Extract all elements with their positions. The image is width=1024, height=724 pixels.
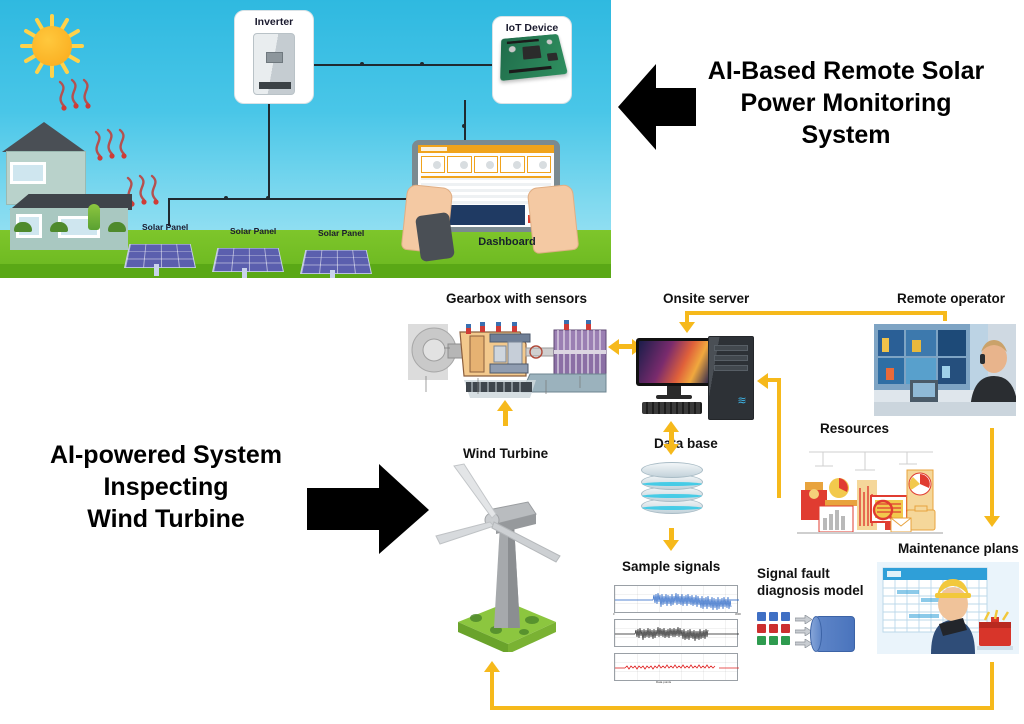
feedback-loop-bottom	[490, 706, 994, 710]
wire	[300, 64, 500, 66]
fault-model-label-line-2: diagnosis model	[757, 583, 867, 600]
connector-turbine-gearbox	[503, 410, 508, 426]
arrowhead-up-icon	[663, 421, 679, 432]
arrowhead-down-icon	[984, 516, 1000, 527]
solar-panel-label: Solar Panel	[230, 226, 276, 236]
inverter-card: Inverter	[234, 10, 314, 104]
solar-panel	[300, 240, 372, 278]
solar-heading-line-2: Power Monitoring	[672, 88, 1020, 120]
signal-plot-2	[614, 619, 738, 647]
iot-device-label: IoT Device	[493, 22, 571, 34]
onsite-server-image: ≋	[636, 336, 764, 422]
turbine-heading-line-2: Inspecting	[16, 472, 316, 504]
solar-system-heading: AI-Based Remote Solar Power Monitoring S…	[672, 56, 1020, 151]
sun-icon	[22, 16, 82, 76]
wire	[268, 102, 270, 200]
arrow-right-icon	[795, 611, 812, 618]
solar-power-illustration: Inverter IoT Device Solar Panel Solar Pa…	[0, 0, 611, 278]
connector-operator-stub	[943, 311, 947, 321]
turbine-heading-line-1: AI-powered System	[16, 440, 316, 472]
sample-signals-label: Sample signals	[622, 559, 720, 574]
iot-device-card: IoT Device	[492, 16, 572, 104]
signal-plot-1	[614, 585, 738, 613]
pc-tower-icon: ≋	[708, 336, 754, 420]
sleeve-cuff	[415, 212, 455, 262]
model-cylinder-icon	[815, 616, 855, 652]
arrowhead-down-icon	[663, 444, 679, 455]
connector-operator-to-server	[685, 311, 947, 315]
maintenance-plans-label: Maintenance plans	[898, 541, 1019, 556]
arrowhead-up-icon	[484, 661, 500, 672]
remote-operator-image	[874, 324, 1016, 416]
fault-model-label: Signal fault diagnosis model	[757, 566, 867, 600]
feedback-loop-left	[490, 672, 494, 710]
remote-operator-label: Remote operator	[897, 291, 1005, 306]
solar-panel-label: Solar Panel	[142, 222, 188, 232]
onsite-server-label: Onsite server	[663, 291, 749, 306]
gearbox-label: Gearbox with sensors	[446, 291, 587, 306]
connector-into-server	[767, 378, 781, 382]
solar-heading-line-1: AI-Based Remote Solar	[672, 56, 1020, 88]
inverter-label: Inverter	[235, 16, 313, 28]
monitor-icon	[636, 338, 712, 386]
dashboard-label: Dashboard	[452, 236, 562, 248]
turbine-heading-line-3: Wind Turbine	[16, 504, 316, 536]
keyboard-icon	[642, 402, 702, 414]
arrowhead-down-icon	[679, 322, 695, 333]
database-icon	[641, 462, 703, 524]
inverter-device-icon	[253, 33, 295, 95]
feedback-loop-right	[990, 662, 994, 710]
wind-turbine-image	[432, 462, 584, 652]
solar-panel	[124, 234, 196, 274]
connector-resources-vertical	[777, 378, 781, 498]
signal-plot-3	[614, 653, 738, 681]
fault-model-label-line-1: Signal fault	[757, 566, 867, 583]
right-arrow-icon	[307, 464, 429, 561]
resources-label: Resources	[820, 421, 889, 436]
sample-signals-chart: 0 3000 Data points	[600, 583, 744, 685]
house-illustration	[0, 118, 130, 236]
circuit-board-icon	[500, 34, 568, 81]
solar-panel-label: Solar Panel	[318, 228, 364, 238]
connector-down-to-maintenance	[990, 428, 994, 518]
wind-turbine-label: Wind Turbine	[463, 446, 548, 461]
gearbox-with-sensors-image	[404, 318, 608, 406]
arrowhead-left-icon	[608, 339, 619, 355]
solar-panel	[212, 238, 284, 278]
resources-image	[795, 444, 945, 540]
signal-fault-diagnosis-model-icon	[757, 608, 857, 660]
turbine-system-heading: AI-powered System Inspecting Wind Turbin…	[16, 440, 316, 535]
arrowhead-down-icon	[663, 540, 679, 551]
solar-heading-line-3: System	[672, 120, 1020, 152]
maintenance-plans-image	[877, 562, 1019, 654]
